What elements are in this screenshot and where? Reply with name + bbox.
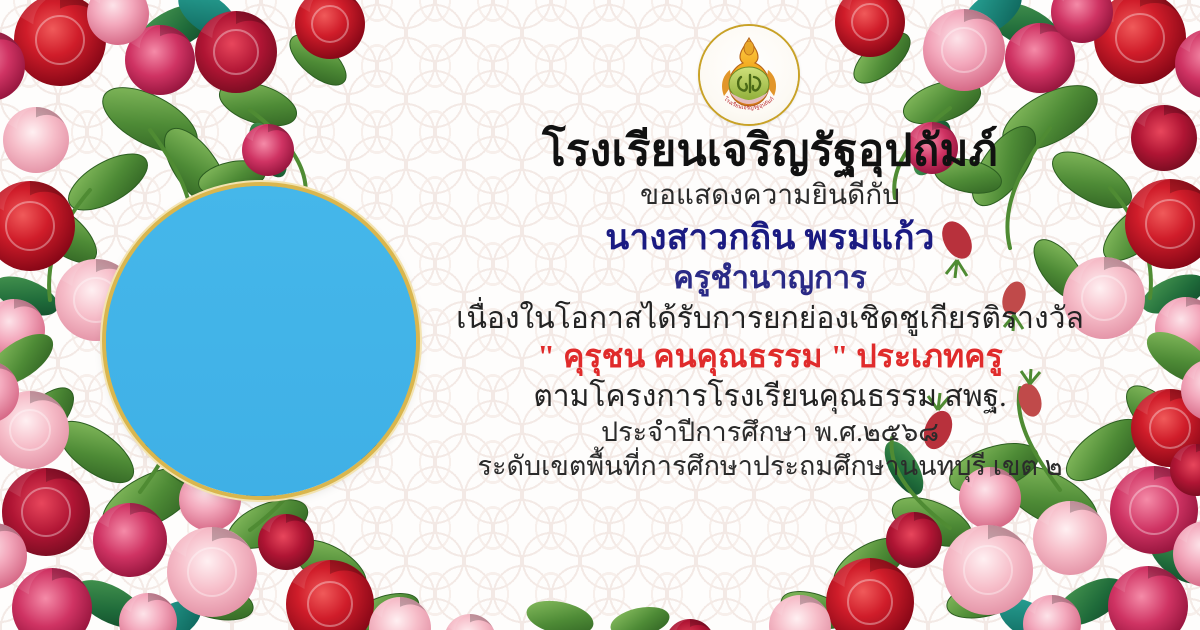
award-title: " คุรุชน คนคุณธรรม " ประเภทครู (390, 340, 1150, 374)
school-emblem: โรงเรียนเจริญรัฐอุปถัมภ์ (700, 26, 798, 124)
portrait-background (106, 186, 416, 496)
project-line: ตามโครงการโรงเรียนคุณธรรม สพฐ. (390, 381, 1150, 413)
school-emblem-graphic: โรงเรียนเจริญรัฐอุปถัมภ์ (700, 26, 798, 124)
education-area-line: ระดับเขตพื้นที่การศึกษาประถมศึกษานนทบุรี… (390, 452, 1150, 480)
congratulations-line: ขอแสดงความยินดีกับ (390, 181, 1150, 210)
academic-year-line: ประจำปีการศึกษา พ.ศ.๒๕๖๘ (390, 418, 1150, 446)
teacher-portrait (106, 186, 416, 496)
congratulation-card: โรงเรียนเจริญรัฐอุปถัมภ์ (0, 0, 1200, 630)
recipient-position: ครูชำนาญการ (390, 262, 1150, 295)
occasion-line: เนื่องในโอกาสได้รับการยกย่องเชิดชูเกียรต… (390, 303, 1150, 335)
school-name-heading: โรงเรียนเจริญรัฐอุปถัมภ์ (390, 128, 1150, 174)
recipient-name: นางสาวกถิน พรมแก้ว (390, 220, 1150, 257)
certificate-text-block: โรงเรียนเจริญรัฐอุปถัมภ์ ขอแสดงความยินดี… (390, 128, 1150, 480)
